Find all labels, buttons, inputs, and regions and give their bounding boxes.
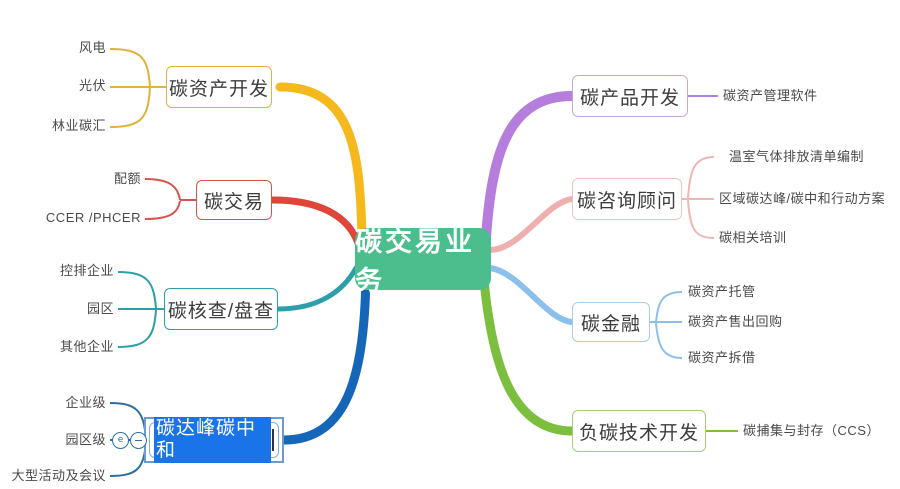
leaf-curve-asset-lending	[656, 323, 682, 358]
leaf-curve-ghg-inventory	[688, 157, 714, 198]
leaf-carbon-asset-sale-repurchase[interactable]: 碳资产售出回购	[688, 315, 783, 328]
branch-label: 碳金融	[581, 309, 641, 336]
branch-node-carbon-peak-neutrality-editing[interactable]: 碳达峰碳中和	[144, 417, 284, 463]
branch-node-negative-carbon-tech[interactable]: 负碳技术开发	[572, 410, 706, 452]
branch-node-carbon-verification[interactable]: 碳核查/盘查	[164, 288, 278, 330]
main-curve-carbon-finance	[490, 268, 572, 322]
branch-label: 碳交易	[204, 187, 264, 214]
leaf-industrial-park[interactable]: 园区	[0, 302, 114, 315]
leaf-park-level[interactable]: 园区级	[0, 433, 106, 446]
leaf-ccer-phcer[interactable]: CCER /PHCER	[0, 211, 141, 224]
main-curve-carbon-verification	[278, 268, 356, 309]
mindmap-canvas: 碳交易业务 碳资产开发 碳交易 碳核查/盘查 碳达峰碳中和 e 风电 光伏 林业…	[0, 0, 900, 489]
edit-inner-box[interactable]: 碳达峰碳中和	[149, 422, 279, 458]
leaf-ghg-emission-inventory[interactable]: 温室气体排放清单编制	[729, 150, 864, 163]
edit-icon[interactable]: e	[112, 432, 129, 449]
main-curve-carbon-product-development	[486, 96, 572, 238]
leaf-other-enterprise[interactable]: 其他企业	[0, 340, 114, 353]
leaf-carbon-asset-trust[interactable]: 碳资产托管	[688, 285, 756, 298]
leaf-carbon-asset-management-software[interactable]: 碳资产管理软件	[723, 89, 818, 102]
leaf-quota[interactable]: 配额	[0, 172, 141, 185]
leaf-forestry-carbon-sink[interactable]: 林业碳汇	[0, 119, 106, 132]
central-node-label: 碳交易业务	[355, 220, 491, 298]
leaf-wind-power[interactable]: 风电	[0, 41, 106, 54]
branch-node-carbon-finance[interactable]: 碳金融	[572, 302, 650, 342]
minus-glyph	[135, 440, 142, 441]
text-caret	[272, 429, 274, 451]
leaf-curve-controlled-enterprise	[118, 272, 156, 309]
leaf-large-events-meetings[interactable]: 大型活动及会议	[0, 469, 106, 482]
branch-node-carbon-asset-development[interactable]: 碳资产开发	[166, 66, 272, 108]
leaf-curve-asset-trust	[656, 292, 682, 322]
leaf-curve-carbon-training	[688, 200, 714, 238]
leaf-curve-other-enterprise	[118, 310, 156, 347]
main-curve-carbon-peak-neutrality	[284, 278, 366, 440]
leaf-curve-ccer	[145, 201, 180, 219]
leaf-photovoltaic[interactable]: 光伏	[0, 79, 106, 92]
leaf-curve-forestry	[110, 88, 150, 127]
branch-label: 碳咨询顾问	[577, 186, 677, 213]
leaf-curve-wind-power	[110, 49, 150, 87]
main-curve-negative-carbon-tech	[484, 280, 572, 431]
leaf-enterprise-level[interactable]: 企业级	[0, 396, 106, 409]
central-node[interactable]: 碳交易业务	[355, 228, 491, 290]
leaf-carbon-related-training[interactable]: 碳相关培训	[719, 231, 787, 244]
branch-node-carbon-trading[interactable]: 碳交易	[196, 180, 272, 220]
branch-label: 碳核查/盘查	[168, 296, 274, 323]
branch-label: 碳资产开发	[169, 74, 269, 101]
main-curve-carbon-asset-development	[280, 87, 362, 238]
branch-node-carbon-product-development[interactable]: 碳产品开发	[572, 75, 688, 117]
main-curve-carbon-consulting	[490, 199, 572, 250]
main-curve-carbon-trading	[272, 200, 358, 243]
leaf-controlled-enterprise[interactable]: 控排企业	[0, 264, 114, 277]
leaf-curve-quota	[145, 179, 180, 200]
branch-label: 碳产品开发	[580, 83, 680, 110]
leaf-carbon-capture-storage-ccs[interactable]: 碳捕集与封存（CCS）	[743, 424, 880, 437]
collapse-minus-icon[interactable]	[130, 432, 147, 449]
branch-label: 负碳技术开发	[579, 418, 699, 445]
branch-node-carbon-consulting[interactable]: 碳咨询顾问	[572, 178, 682, 220]
leaf-carbon-asset-lending[interactable]: 碳资产拆借	[688, 351, 756, 364]
edit-selected-text[interactable]: 碳达峰碳中和	[154, 417, 271, 463]
leaf-regional-peak-neutrality-plan[interactable]: 区域碳达峰/碳中和行动方案	[719, 192, 885, 205]
